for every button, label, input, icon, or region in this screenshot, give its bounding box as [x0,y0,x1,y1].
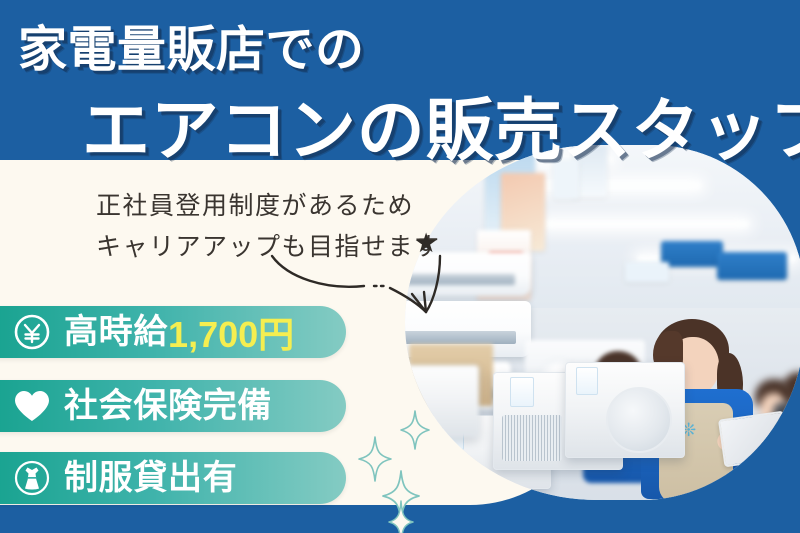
store-staff-photo: ❊ [405,145,800,500]
photo-ceiling-light [541,220,749,228]
speech-bubble-text: 正社員登用制度があるため キャリアアップも目指せます [96,186,441,267]
heart-icon [12,386,52,426]
photo-blue-sign [717,252,787,280]
feature-pill-insurance: 社会保険完備 [0,380,346,432]
speech-bubble-line-2: キャリアアップも目指せます [96,227,441,268]
feature-pill-wage-amount: 1,700円 [168,306,294,358]
feature-pill-uniform: 制服貸出有 [0,452,346,504]
photo-ac-outdoor-unit [405,365,479,437]
photo-blue-sign [661,241,723,267]
speech-bubble-star-icon: ★ [414,228,438,259]
photo-scene: ❊ [405,145,800,500]
photo-shelf-label [625,262,669,282]
uniform-dress-icon [12,458,52,498]
job-ad-banner: ❊ 家電量販店での エアコンの販売スタッフ 正社員登用制 [0,0,800,533]
feature-pill-wage-label: 高時給 [64,315,168,349]
speech-bubble-line-1: 正社員登用制度があるため [96,186,441,227]
feature-pill-wage: 高時給 1,700円 [0,306,346,358]
feature-pill-uniform-label: 制服貸出有 [64,461,237,495]
headline-line-1: 家電量販店での [18,10,364,81]
photo-tablet [718,410,790,467]
feature-pill-insurance-label: 社会保険完備 [64,389,272,423]
headline-line-2: エアコンの販売スタッフ [82,75,800,174]
yen-circle-icon [12,312,52,352]
photo-ac-outdoor-unit [565,362,685,458]
